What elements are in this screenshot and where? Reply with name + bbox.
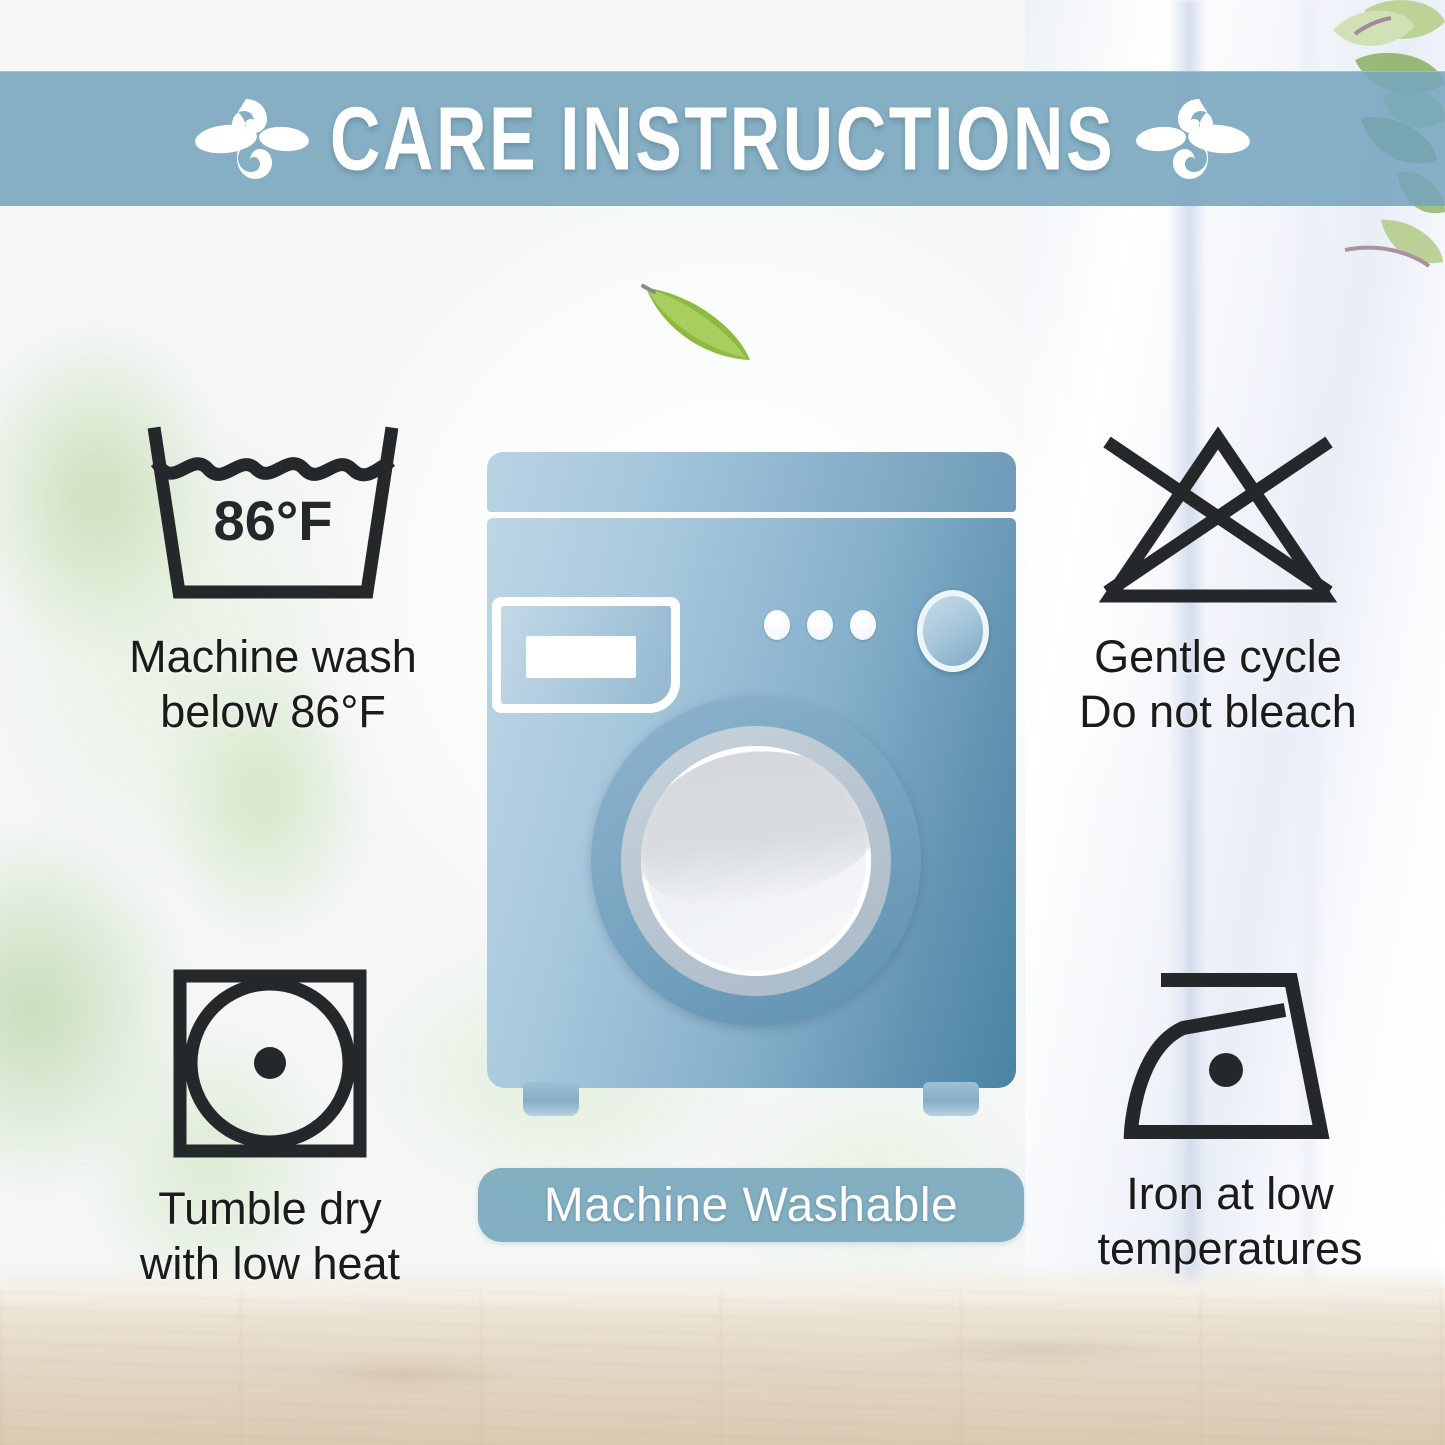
- green-leaf-icon: [638, 276, 758, 366]
- machine-washable-badge: Machine Washable: [478, 1168, 1024, 1242]
- iron-one-dot-icon: [1113, 966, 1348, 1151]
- washing-machine-illustration: [483, 452, 1020, 1132]
- care-symbol-caption-do-not-bleach: Gentle cycle Do not bleach: [1079, 630, 1357, 740]
- care-symbol-caption-tumble-dry: Tumble dry with low heat: [140, 1182, 400, 1292]
- care-symbol-do-not-bleach: Gentle cycle Do not bleach: [1018, 424, 1418, 740]
- washer-leg-right: [923, 1082, 979, 1116]
- indicator-light-2: [807, 610, 833, 640]
- care-symbol-machine-wash: 86°F Machine wash below 86°F: [58, 424, 488, 740]
- washer-top-panel: [487, 452, 1016, 512]
- indicator-light-1: [764, 610, 790, 640]
- care-symbol-tumble-dry: Tumble dry with low heat: [60, 966, 480, 1292]
- washer-body: [487, 518, 1016, 1088]
- machine-washable-badge-label: Machine Washable: [544, 1178, 958, 1233]
- crossed-triangle-icon: [1093, 424, 1343, 614]
- control-knob: [917, 590, 989, 672]
- care-symbol-caption-machine-wash: Machine wash below 86°F: [129, 630, 417, 740]
- wash-tub-icon: 86°F: [143, 424, 403, 614]
- banner: CARE INSTRUCTIONS: [0, 71, 1445, 206]
- wash-tub-temperature: 86°F: [214, 489, 333, 552]
- tumble-dry-low-icon: [170, 966, 370, 1166]
- fleur-de-lis-icon-left: [192, 93, 312, 185]
- page-title: CARE INSTRUCTIONS: [330, 87, 1115, 189]
- control-indicator-lights: [764, 610, 876, 640]
- washer-door-reflection: [641, 746, 871, 914]
- care-symbol-caption-iron-low: Iron at low temperatures: [1097, 1167, 1362, 1277]
- washer-leg-left: [523, 1082, 579, 1116]
- wood-surface: [0, 1287, 1445, 1445]
- detergent-drawer: [501, 606, 671, 704]
- fleur-de-lis-icon-right: [1133, 93, 1253, 185]
- washer-door-ring: [621, 726, 891, 996]
- washer-door-glass: [641, 746, 871, 976]
- care-symbol-iron-low: Iron at low temperatures: [1030, 966, 1430, 1277]
- washer-door: [591, 696, 921, 1026]
- detergent-drawer-handle: [526, 636, 636, 678]
- indicator-light-3: [850, 610, 876, 640]
- care-instructions-infographic: CARE INSTRUCTIONS: [0, 0, 1445, 1445]
